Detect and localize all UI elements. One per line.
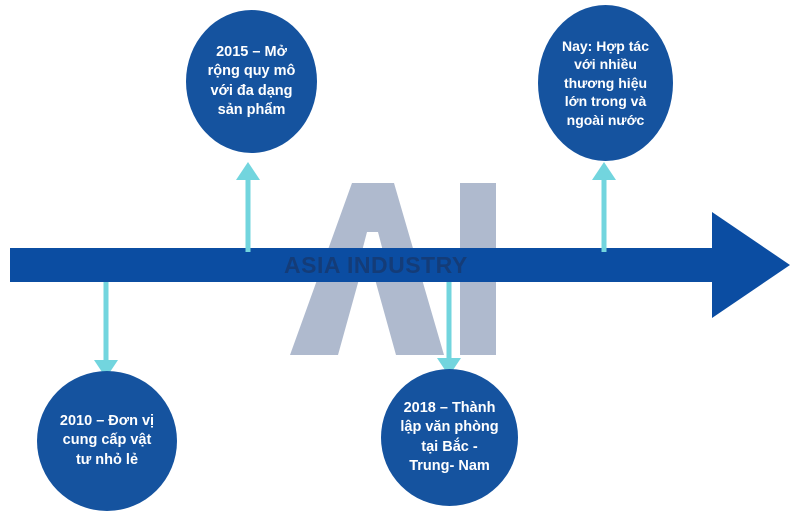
- milestone-text-2015: 2015 – Mở rộng quy mô với đa dạng sản ph…: [202, 43, 302, 120]
- milestone-text-2010: 2010 – Đơn vị cung cấp vật tư nhỏ lẻ: [54, 412, 160, 469]
- connector-arrow-2010: [88, 282, 124, 380]
- connector-arrow-2015: [230, 160, 266, 252]
- milestone-bubble-now[interactable]: Nay: Hợp tác với nhiều thương hiệu lớn t…: [538, 5, 673, 161]
- milestone-bubble-2015[interactable]: 2015 – Mở rộng quy mô với đa dạng sản ph…: [186, 10, 317, 153]
- milestone-text-now: Nay: Hợp tác với nhiều thương hiệu lớn t…: [556, 37, 655, 129]
- connector-arrow-2018: [431, 282, 467, 378]
- connector-arrow-now: [586, 160, 622, 252]
- milestone-bubble-2010[interactable]: 2010 – Đơn vị cung cấp vật tư nhỏ lẻ: [37, 371, 177, 511]
- milestone-bubble-2018[interactable]: 2018 – Thành lập văn phòng tại Bắc - Tru…: [381, 369, 518, 506]
- milestone-text-2018: 2018 – Thành lập văn phòng tại Bắc - Tru…: [394, 399, 504, 476]
- timeline-infographic: ASIA INDUSTRY 2015 – Mở rộng quy mô với …: [0, 0, 800, 520]
